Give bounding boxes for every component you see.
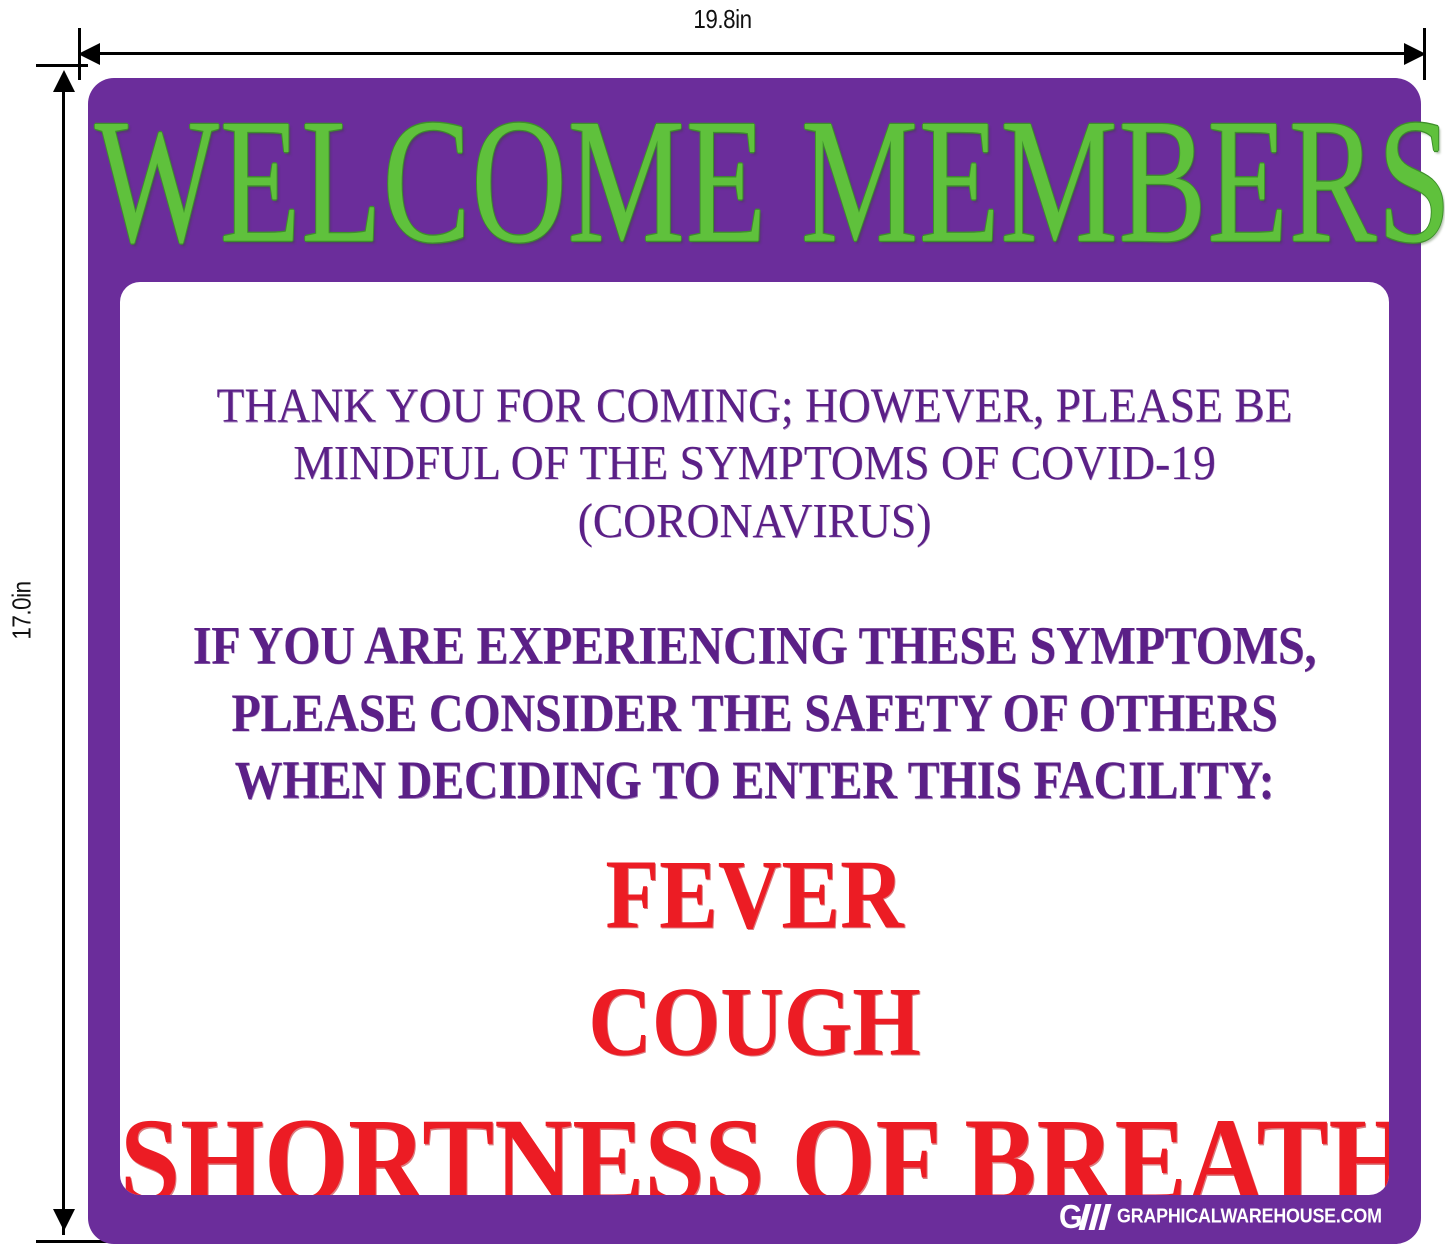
width-arrow-right-icon bbox=[1404, 43, 1426, 65]
width-dimension-label: 19.8in bbox=[101, 4, 1344, 35]
logo-wordmark: GRAPHICALWAREHOUSE.COM bbox=[1117, 1205, 1382, 1229]
symptom-item-cough: COUGH bbox=[120, 974, 1389, 1073]
height-dimension-line bbox=[62, 80, 65, 1235]
height-extension-line-top bbox=[36, 64, 88, 67]
width-dimension-line bbox=[86, 52, 1421, 55]
logo-slashes-icon bbox=[1080, 1204, 1110, 1230]
symptom-list: FEVER COUGH SHORTNESS OF BREATH bbox=[120, 852, 1389, 1195]
sign-paragraph-instruction: IF YOU ARE EXPERIENCING THESE SYMPTOMS, … bbox=[167, 612, 1343, 814]
height-dimension-label: 17.0in bbox=[7, 550, 38, 670]
sign-board: WELCOME MEMBERS THANK YOU FOR COMING; HO… bbox=[88, 78, 1421, 1244]
sign-paragraph-intro: THANK YOU FOR COMING; HOWEVER, PLEASE BE… bbox=[166, 378, 1343, 551]
height-arrow-down-icon bbox=[53, 1209, 75, 1231]
sign-white-panel: THANK YOU FOR COMING; HOWEVER, PLEASE BE… bbox=[120, 282, 1389, 1195]
symptom-item-fever: FEVER bbox=[120, 847, 1389, 946]
sign-title: WELCOME MEMBERS bbox=[95, 92, 1415, 270]
height-arrow-up-icon bbox=[53, 70, 75, 92]
symptom-item-shortness-of-breath: SHORTNESS OF BREATH bbox=[120, 1102, 1389, 1195]
logo-g-mark-icon: G bbox=[1058, 1200, 1111, 1233]
graphical-warehouse-logo: G GRAPHICALWAREHOUSE.COM bbox=[1058, 1200, 1399, 1233]
width-arrow-left-icon bbox=[78, 43, 100, 65]
